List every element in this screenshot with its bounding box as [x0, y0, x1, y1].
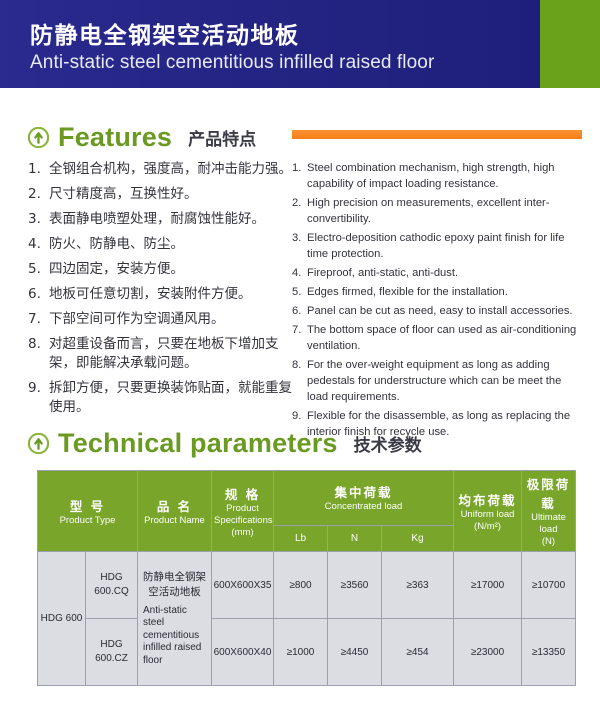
- header-label-cn: 均布荷载: [456, 490, 519, 509]
- table-header-row-main: 型 号 Product Type 品 名 Product Name 规 格 Pr…: [38, 471, 576, 526]
- page-banner: 防静电全钢架空活动地板 Anti-static steel cementitio…: [0, 0, 600, 88]
- list-item-text: 全钢组合机构，强度高，耐冲击能力强。: [49, 160, 300, 179]
- cell-model: HDG 600.CQ: [86, 552, 138, 619]
- product-name-cn: 防静电全钢架空活动地板: [143, 570, 206, 600]
- header-label-cn: 极限荷载: [524, 474, 573, 512]
- cell-load-kg: ≥454: [382, 619, 454, 686]
- banner-accent-block: [540, 0, 600, 88]
- cell-specification: 600X600X40: [212, 619, 274, 686]
- list-item-text: Panel can be cut as need, easy to instal…: [307, 303, 584, 319]
- list-item: 1. Steel combination mechanism, high str…: [292, 160, 584, 192]
- header-concentrated-load: 集中荷载 Concentrated load: [274, 471, 454, 526]
- technical-parameters-heading: Technical parameters 技术参数: [28, 428, 422, 459]
- header-label-en: Uniform load: [456, 509, 519, 521]
- list-item-number: 8.: [28, 335, 49, 354]
- list-item-number: 5.: [28, 260, 49, 279]
- header-load-lb: Lb: [274, 525, 328, 551]
- technical-heading-chinese: 技术参数: [354, 431, 422, 456]
- header-product-name: 品 名 Product Name: [138, 471, 212, 552]
- list-item-text: Edges firmed, flexible for the installat…: [307, 284, 584, 300]
- list-item-number: 5.: [292, 284, 307, 300]
- list-item: 9. 拆卸方便，只要更换装饰贴面，就能重复使用。: [28, 379, 300, 417]
- list-item-text: Steel combination mechanism, high streng…: [307, 160, 584, 192]
- list-item-number: 2.: [28, 185, 49, 204]
- features-heading-english: Features: [58, 122, 172, 153]
- features-list-english: 1. Steel combination mechanism, high str…: [292, 160, 584, 443]
- list-item-text: For the over-weight equipment as long as…: [307, 357, 584, 405]
- list-item-text: 防火、防静电、防尘。: [49, 235, 300, 254]
- cell-product-name: 防静电全钢架空活动地板 Anti-static steel cementitio…: [138, 552, 212, 686]
- list-item-text: 四边固定，安装方便。: [49, 260, 300, 279]
- table-row: HDG 600.CZ 600X600X40 ≥1000 ≥4450 ≥454 ≥…: [38, 619, 576, 686]
- header-load-kg: Kg: [382, 525, 454, 551]
- list-item-text: 对超重设备而言，只要在地板下增加支架，即能解决承载问题。: [49, 335, 300, 373]
- list-item-number: 3.: [292, 230, 307, 246]
- list-item-number: 9.: [28, 379, 49, 398]
- cell-uniform-load: ≥17000: [454, 552, 522, 619]
- list-item-number: 3.: [28, 210, 49, 229]
- list-item-text: The bottom space of floor can used as ai…: [307, 322, 584, 354]
- features-heading-chinese: 产品特点: [188, 125, 256, 150]
- header-label-en: Product Specifications: [214, 503, 271, 527]
- header-product-type: 型 号 Product Type: [38, 471, 138, 552]
- technical-heading-english: Technical parameters: [58, 428, 338, 459]
- list-item-text: 拆卸方便，只要更换装饰贴面，就能重复使用。: [49, 379, 300, 417]
- cell-specification: 600X600X35: [212, 552, 274, 619]
- list-item-number: 1.: [28, 160, 49, 179]
- features-orange-rule: [292, 130, 582, 139]
- list-item-number: 4.: [292, 265, 307, 281]
- list-item-text: 表面静电喷塑处理，耐腐蚀性能好。: [49, 210, 300, 229]
- list-item: 2. 尺寸精度高，互换性好。: [28, 185, 300, 204]
- header-label-unit: (N): [524, 536, 573, 548]
- header-label-en: Ultimate load: [524, 512, 573, 536]
- header-label-cn: 品 名: [140, 496, 209, 515]
- features-heading: Features 产品特点: [28, 122, 256, 153]
- header-load-n: N: [328, 525, 382, 551]
- list-item: 3. 表面静电喷塑处理，耐腐蚀性能好。: [28, 210, 300, 229]
- features-list-chinese: 1. 全钢组合机构，强度高，耐冲击能力强。 2. 尺寸精度高，互换性好。 3. …: [28, 160, 300, 423]
- technical-parameters-table: 型 号 Product Type 品 名 Product Name 规 格 Pr…: [37, 470, 576, 686]
- list-item-number: 6.: [292, 303, 307, 319]
- arch-up-arrow-icon: [28, 127, 49, 148]
- list-item-number: 1.: [292, 160, 307, 176]
- product-name-en: Anti-static steel cementitious infilled …: [143, 605, 206, 668]
- list-item: 4. 防火、防静电、防尘。: [28, 235, 300, 254]
- cell-load-lb: ≥800: [274, 552, 328, 619]
- cell-uniform-load: ≥23000: [454, 619, 522, 686]
- cell-load-kg: ≥363: [382, 552, 454, 619]
- list-item: 5. 四边固定，安装方便。: [28, 260, 300, 279]
- header-label-en: Product Name: [140, 515, 209, 527]
- list-item: 7. 下部空间可作为空调通风用。: [28, 310, 300, 329]
- list-item: 2. High precision on measurements, excel…: [292, 195, 584, 227]
- header-ultimate-load: 极限荷载 Ultimate load (N): [522, 471, 576, 552]
- list-item: 6. Panel can be cut as need, easy to ins…: [292, 303, 584, 319]
- list-item-number: 7.: [28, 310, 49, 329]
- cell-load-lb: ≥1000: [274, 619, 328, 686]
- cell-ultimate-load: ≥10700: [522, 552, 576, 619]
- header-label-unit: (mm): [214, 527, 271, 539]
- list-item-number: 4.: [28, 235, 49, 254]
- list-item: 3. Electro-deposition cathodic epoxy pai…: [292, 230, 584, 262]
- header-label-cn: 规 格: [214, 484, 271, 503]
- cell-ultimate-load: ≥13350: [522, 619, 576, 686]
- list-item: 5. Edges firmed, flexible for the instal…: [292, 284, 584, 300]
- header-uniform-load: 均布荷载 Uniform load (N/m²): [454, 471, 522, 552]
- list-item-text: High precision on measurements, excellen…: [307, 195, 584, 227]
- cell-load-n: ≥4450: [328, 619, 382, 686]
- cell-load-n: ≥3560: [328, 552, 382, 619]
- header-label-cn: 集中荷载: [276, 482, 451, 501]
- cell-model-group: HDG 600: [38, 552, 86, 686]
- list-item: 8. For the over-weight equipment as long…: [292, 357, 584, 405]
- header-label-unit: (N/m²): [456, 521, 519, 533]
- banner-title-chinese: 防静电全钢架空活动地板: [30, 16, 300, 50]
- list-item: 6. 地板可任意切割，安装附件方便。: [28, 285, 300, 304]
- list-item-text: 下部空间可作为空调通风用。: [49, 310, 300, 329]
- list-item-number: 2.: [292, 195, 307, 211]
- list-item: 8. 对超重设备而言，只要在地板下增加支架，即能解决承载问题。: [28, 335, 300, 373]
- list-item-number: 6.: [28, 285, 49, 304]
- cell-model: HDG 600.CZ: [86, 619, 138, 686]
- header-label-cn: 型 号: [40, 496, 135, 515]
- list-item: 7. The bottom space of floor can used as…: [292, 322, 584, 354]
- header-label-en: Product Type: [40, 515, 135, 527]
- list-item-text: Electro-deposition cathodic epoxy paint …: [307, 230, 584, 262]
- table-row: HDG 600 HDG 600.CQ 防静电全钢架空活动地板 Anti-stat…: [38, 552, 576, 619]
- list-item-number: 8.: [292, 357, 307, 373]
- list-item-number: 9.: [292, 408, 307, 424]
- banner-title-english: Anti-static steel cementitious infilled …: [30, 52, 434, 74]
- header-label-en: Concentrated load: [276, 501, 451, 513]
- list-item-text: 尺寸精度高，互换性好。: [49, 185, 300, 204]
- list-item: 4. Fireproof, anti-static, anti-dust.: [292, 265, 584, 281]
- header-product-specifications: 规 格 Product Specifications (mm): [212, 471, 274, 552]
- list-item-text: 地板可任意切割，安装附件方便。: [49, 285, 300, 304]
- list-item-number: 7.: [292, 322, 307, 338]
- arch-up-arrow-icon: [28, 433, 49, 454]
- list-item-text: Fireproof, anti-static, anti-dust.: [307, 265, 584, 281]
- list-item: 1. 全钢组合机构，强度高，耐冲击能力强。: [28, 160, 300, 179]
